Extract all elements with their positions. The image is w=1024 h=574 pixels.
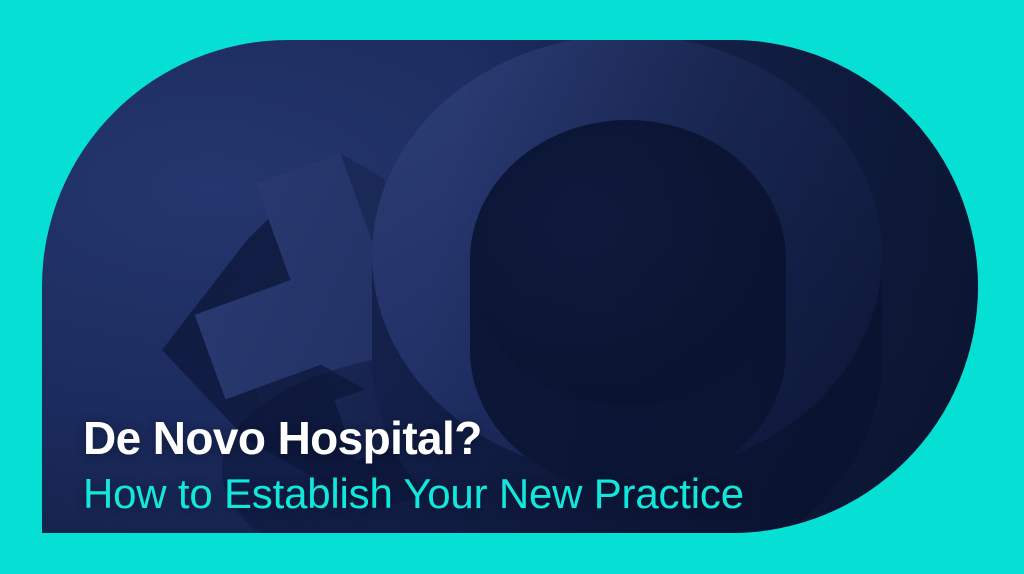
banner-headline: De Novo Hospital? <box>83 415 903 463</box>
banner-text-block: De Novo Hospital? How to Establish Your … <box>83 415 903 517</box>
banner-subheadline: How to Establish Your New Practice <box>83 472 903 517</box>
promo-banner: De Novo Hospital? How to Establish Your … <box>0 0 1024 574</box>
